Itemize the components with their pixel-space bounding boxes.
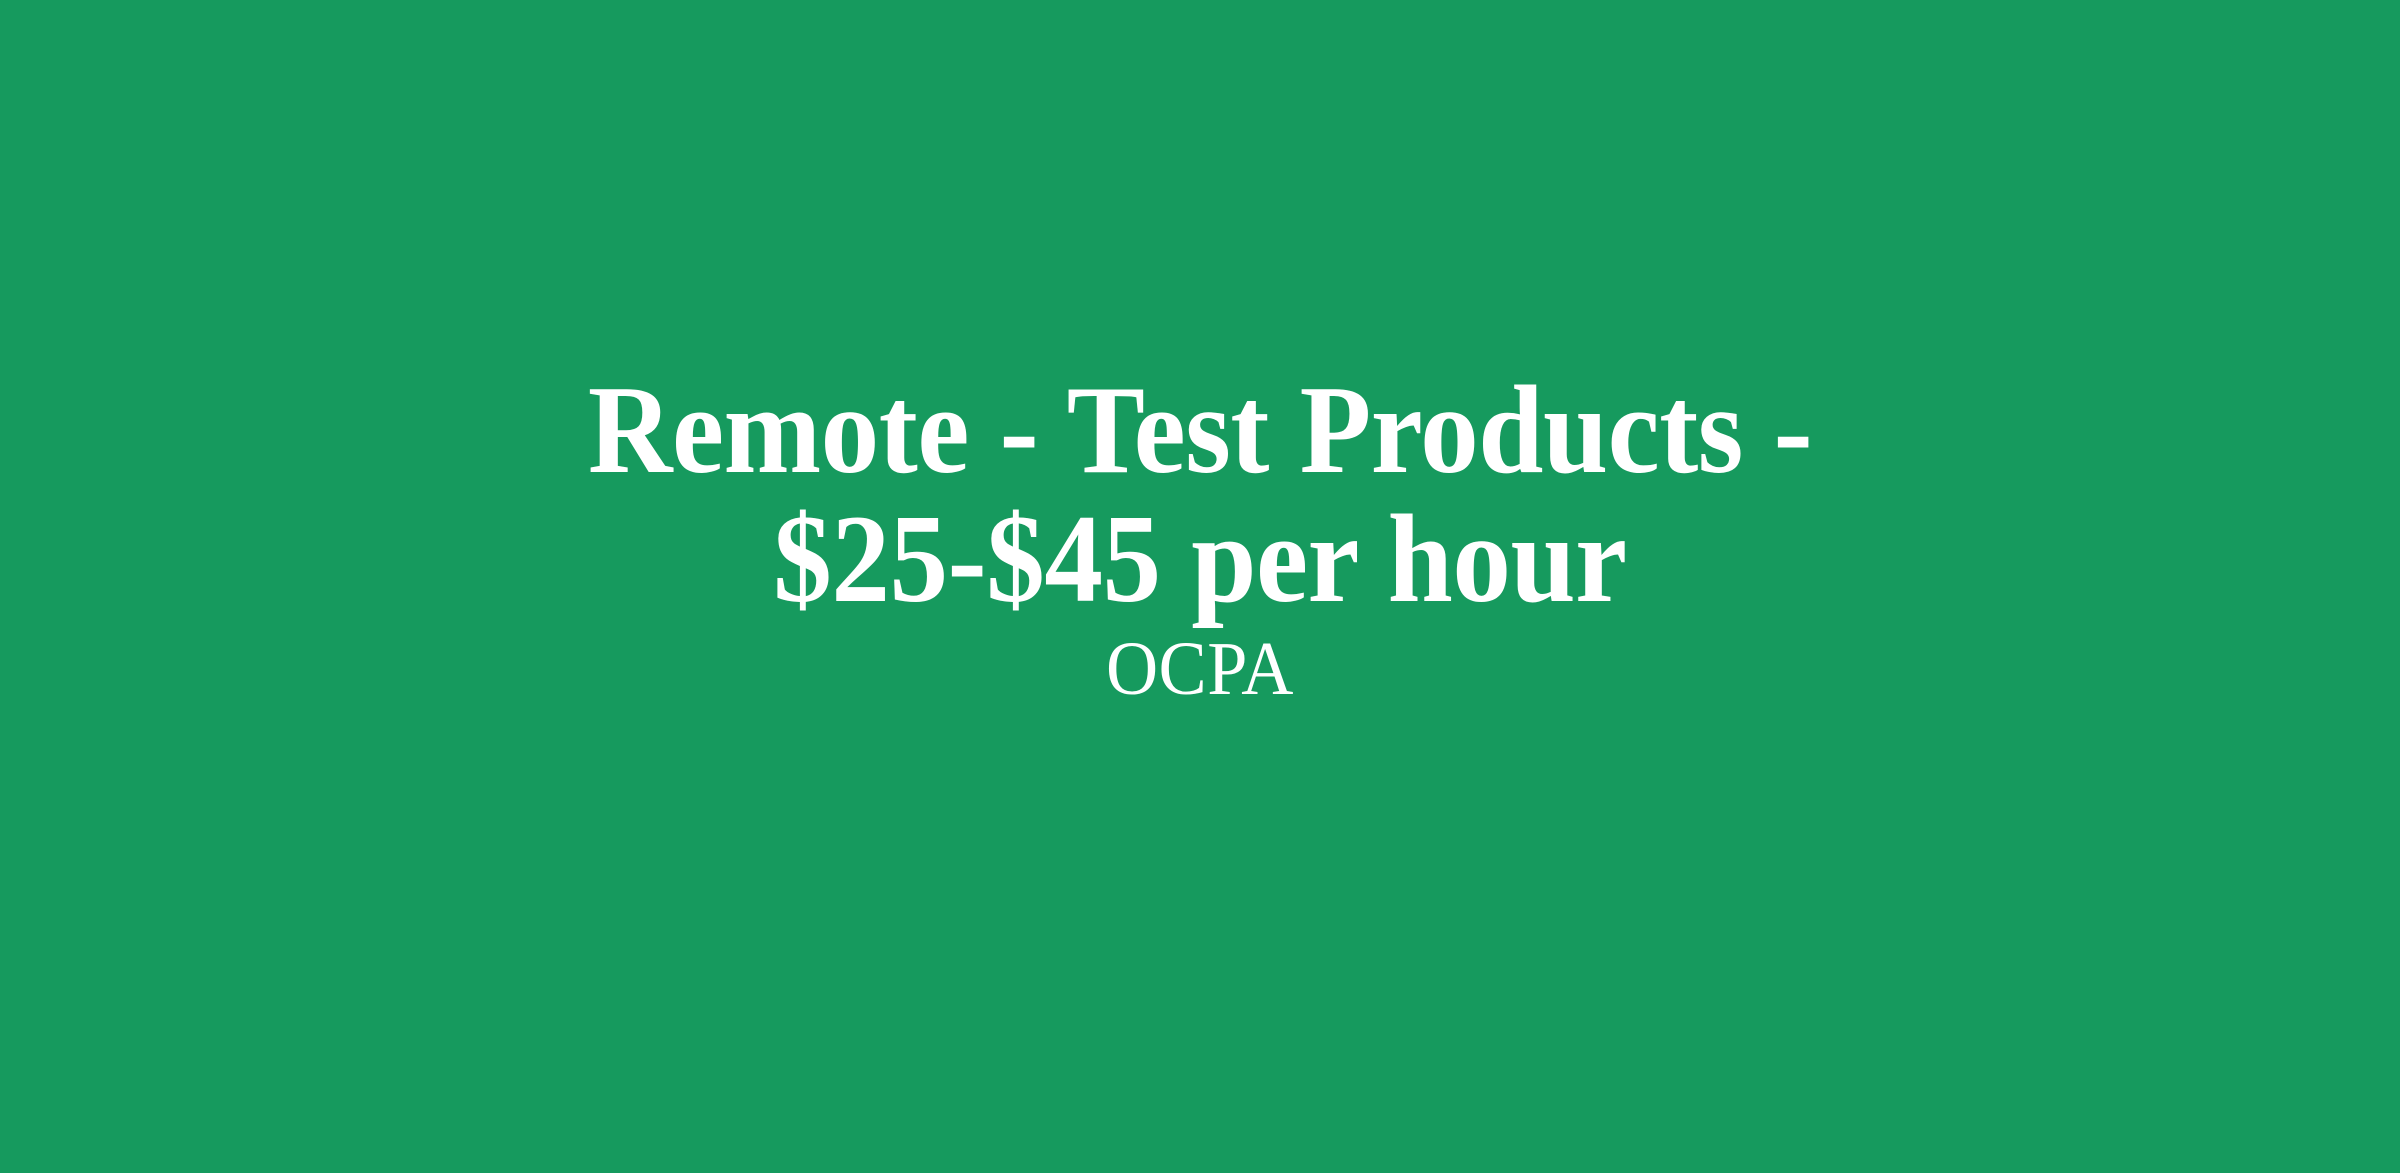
poster-headline: Remote - Test Products - $25-$45 per hou…: [475, 367, 1926, 624]
poster-card: Remote - Test Products - $25-$45 per hou…: [0, 0, 2400, 1173]
poster-text-stack: Remote - Test Products - $25-$45 per hou…: [420, 367, 1980, 710]
poster-subtitle: OCPA: [1106, 630, 1294, 710]
